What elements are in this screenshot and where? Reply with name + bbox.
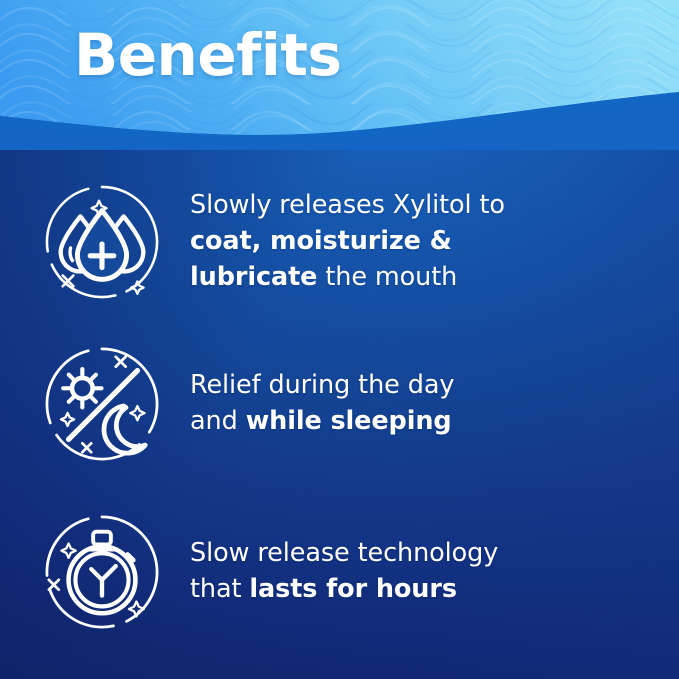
benefit-line: Slow release technology — [190, 536, 655, 572]
page-title: Benefits — [74, 24, 342, 87]
benefit-icon-1-cell — [0, 183, 190, 301]
benefit-text-3-cell: Slow release technology that lasts for h… — [190, 536, 679, 607]
benefits-infographic: Benefits — [0, 0, 679, 679]
benefit-text-1-cell: Slowly releases Xylitol to coat, moistur… — [190, 188, 679, 295]
benefit-text-2-cell: Relief during the day and while sleeping — [190, 368, 679, 439]
benefit-icon-3-cell — [0, 513, 190, 631]
benefit-icon-2-cell — [0, 345, 190, 463]
benefit-line: that lasts for hours — [190, 572, 655, 608]
droplets-plus-icon — [43, 183, 161, 301]
benefit-item-2: Relief during the day and while sleeping — [0, 334, 679, 474]
benefit-item-3: Slow release technology that lasts for h… — [0, 502, 679, 642]
benefit-line: Relief during the day — [190, 368, 655, 404]
benefit-line: lubricate the mouth — [190, 260, 655, 296]
benefit-text-1: Slowly releases Xylitol to coat, moistur… — [190, 188, 655, 295]
header-banner: Benefits — [0, 0, 679, 150]
benefit-text-3: Slow release technology that lasts for h… — [190, 536, 655, 607]
benefit-text-2: Relief during the day and while sleeping — [190, 368, 655, 439]
sun-moon-icon — [43, 345, 161, 463]
stopwatch-icon — [43, 513, 161, 631]
benefit-line: coat, moisturize & — [190, 224, 655, 260]
benefit-item-1: Slowly releases Xylitol to coat, moistur… — [0, 172, 679, 312]
benefits-list: Slowly releases Xylitol to coat, moistur… — [0, 150, 679, 679]
benefit-line: Slowly releases Xylitol to — [190, 188, 655, 224]
benefit-line: and while sleeping — [190, 404, 655, 440]
